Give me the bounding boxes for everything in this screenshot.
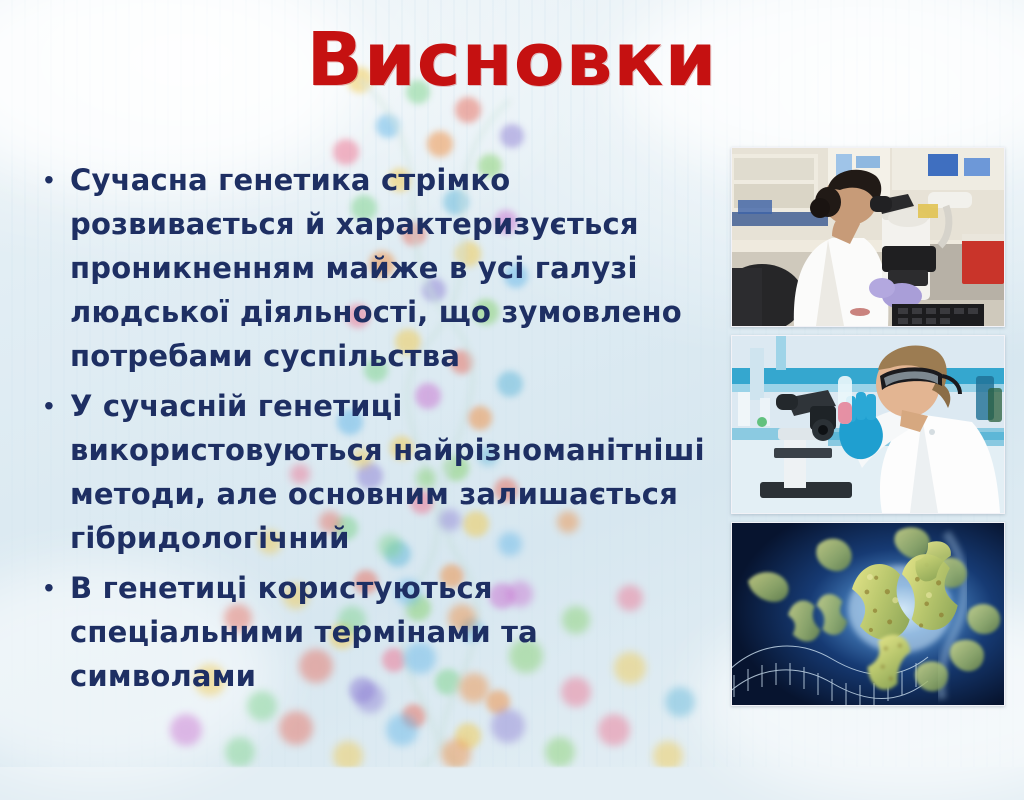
bullet-marker-icon: •: [34, 384, 70, 428]
bullet-marker-icon: •: [34, 566, 70, 610]
researcher-with-test-tube-photo: [731, 335, 1005, 514]
list-item: • В генетиці користуються спеціальними т…: [34, 566, 722, 698]
bullet-marker-icon: •: [34, 158, 70, 202]
list-item: • У сучасній генетиці використовуються н…: [34, 384, 722, 560]
slide-title: Висновки: [0, 18, 1024, 102]
list-item: • Сучасна генетика стрімко розвивається …: [34, 158, 722, 378]
bullet-list: • Сучасна генетика стрімко розвивається …: [34, 158, 722, 704]
bullet-text: Сучасна генетика стрімко розвивається й …: [70, 158, 722, 378]
scientist-at-microscope-lab-photo: [731, 147, 1005, 327]
chromosomes-dna-illustration: [731, 522, 1005, 706]
bullet-text: В генетиці користуються спеціальними тер…: [70, 566, 722, 698]
slide-canvas: Висновки • Сучасна генетика стрімко розв…: [0, 0, 1024, 767]
image-column: [731, 147, 1003, 714]
bullet-text: У сучасній генетиці використовуються най…: [70, 384, 722, 560]
